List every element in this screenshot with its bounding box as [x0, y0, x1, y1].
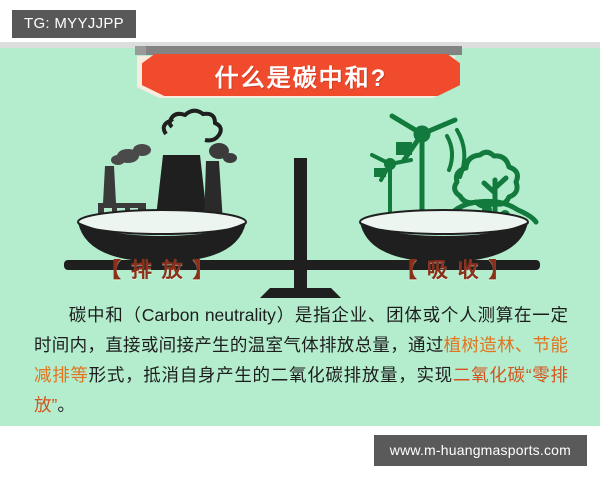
- definition-paragraph: 碳中和（Carbon neutrality）是指企业、团体或个人测算在一定时间内…: [34, 300, 568, 420]
- banner-front-layer: 什么是碳中和?: [142, 54, 460, 96]
- banner-gray-band-cap: [135, 46, 146, 55]
- wind-turbine-large-icon: [392, 116, 455, 220]
- paragraph-line-4-a: 量，实现: [380, 365, 453, 385]
- tg-watermark: TG: MYYJJPP: [12, 10, 136, 38]
- absorption-label: 【 吸 收 】: [396, 254, 512, 284]
- smoke-cloud-icon: [111, 144, 151, 165]
- renewables-group: [372, 116, 536, 223]
- cooling-tower-smoke-icon: [164, 111, 221, 141]
- paragraph-line-3-rest: 形式，抵消自身产生的二氧化碳排放: [89, 365, 380, 385]
- paragraph-line-1: 碳中和（Carbon neutrality）是指企业、团体或个人测算: [68, 305, 514, 325]
- banner-gray-band: [138, 46, 462, 55]
- page-title: 什么是碳中和?: [215, 58, 388, 93]
- paragraph-line-4-b: 。: [57, 395, 75, 415]
- wind-turbine-small-icon: [372, 155, 411, 218]
- site-watermark: www.m-huangmasports.com: [374, 435, 587, 466]
- title-banner: 什么是碳中和?: [135, 46, 465, 98]
- emission-label: 【 排 放 】: [100, 254, 216, 284]
- smokestack-smoke-icon: [209, 143, 237, 163]
- poster-canvas: 什么是碳中和?: [0, 42, 600, 426]
